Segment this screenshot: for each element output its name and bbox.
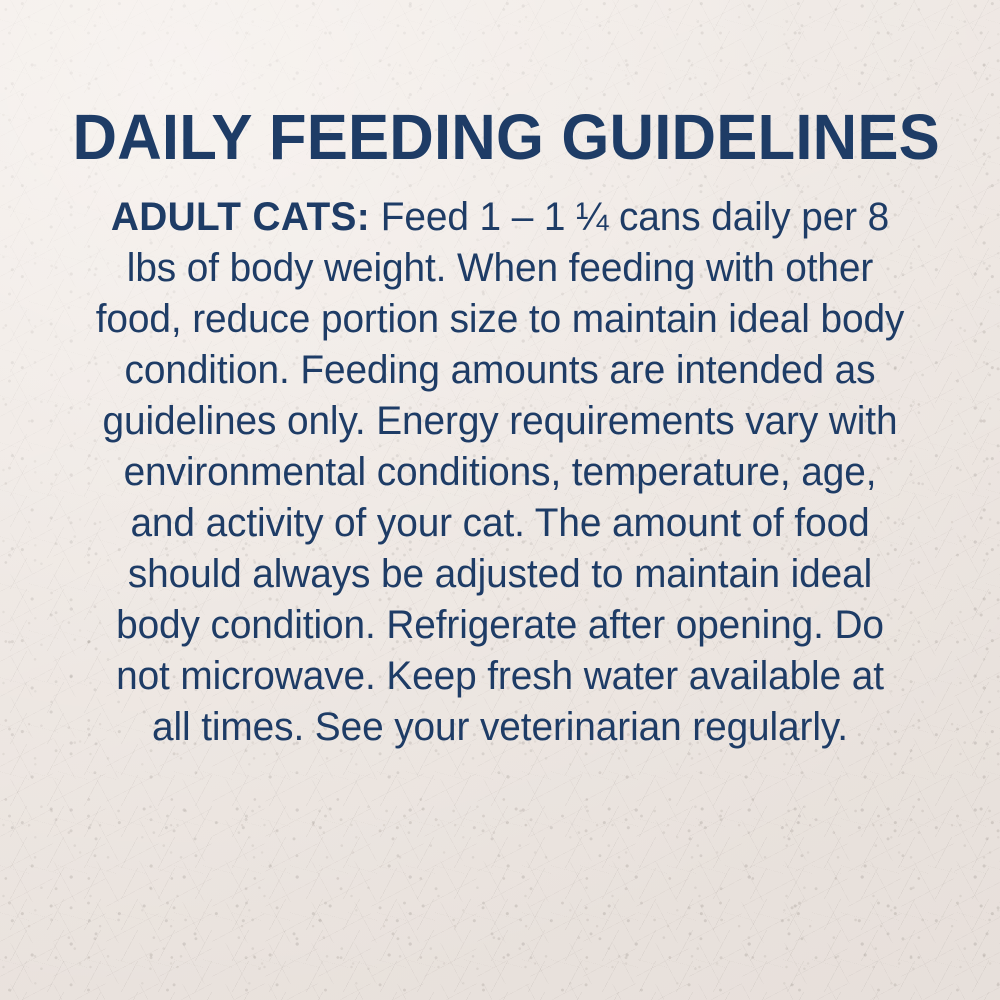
feeding-guidelines-panel: DAILY FEEDING GUIDELINES ADULT CATS: Fee… [0, 0, 1000, 1000]
page-title: DAILY FEEDING GUIDELINES [73, 0, 928, 170]
feeding-instructions-text: ADULT CATS: Feed 1 – 1 ¼ cans daily per … [93, 170, 908, 753]
feeding-instructions-body: Feed 1 – 1 ¼ cans daily per 8 lbs of bod… [96, 195, 905, 749]
label-content: DAILY FEEDING GUIDELINES ADULT CATS: Fee… [0, 0, 1000, 1000]
adult-cats-lead-in-label: ADULT CATS: [111, 195, 370, 239]
